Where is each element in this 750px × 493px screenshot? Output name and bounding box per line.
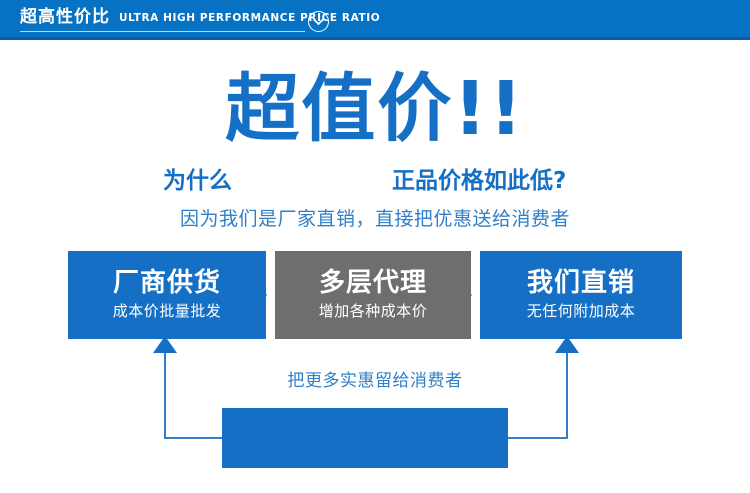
return-value-label: 把更多实惠留给消费者 [0,371,750,391]
header-title: 超高性价比 [20,9,110,29]
header-subtitle: ULTRA HIGH PERFORMANCE PRICE RATIO [119,12,380,26]
header-underline [20,31,305,32]
flow-step-subtitle: 成本价批量批发 [113,302,222,322]
flow-step-direct-sales: 我们直销 无任何附加成本 [480,251,682,339]
flow-step-agents: 多层代理 增加各种成本价 [275,251,471,339]
supply-chain-flow: 厂商供货 成本价批量批发 多层代理 增加各种成本价 我们直销 无任何附加成本 [68,251,682,339]
question-right: 正品价格如此低? [392,168,566,196]
chevron-right-icon [255,251,275,339]
chevron-down-circle-icon[interactable] [308,11,329,32]
question-row: 为什么 正品价格如此低? [0,168,750,198]
chevron-right-icon [460,251,480,339]
flow-step-manufacturer: 厂商供货 成本价批量批发 [68,251,266,339]
header-band: 超高性价比 ULTRA HIGH PERFORMANCE PRICE RATIO [0,0,750,40]
main-headline: 超值价!! [0,72,750,146]
bottom-highlight-bar [222,408,508,468]
flow-step-subtitle: 无任何附加成本 [527,302,636,322]
hero-tagline: 因为我们是厂家直销，直接把优惠送给消费者 [0,207,750,232]
flow-step-subtitle: 增加各种成本价 [319,302,428,322]
flow-step-title: 厂商供货 [113,269,221,299]
flow-step-title: 我们直销 [527,269,635,299]
flow-step-title: 多层代理 [319,269,427,299]
question-left: 为什么 [163,168,232,196]
